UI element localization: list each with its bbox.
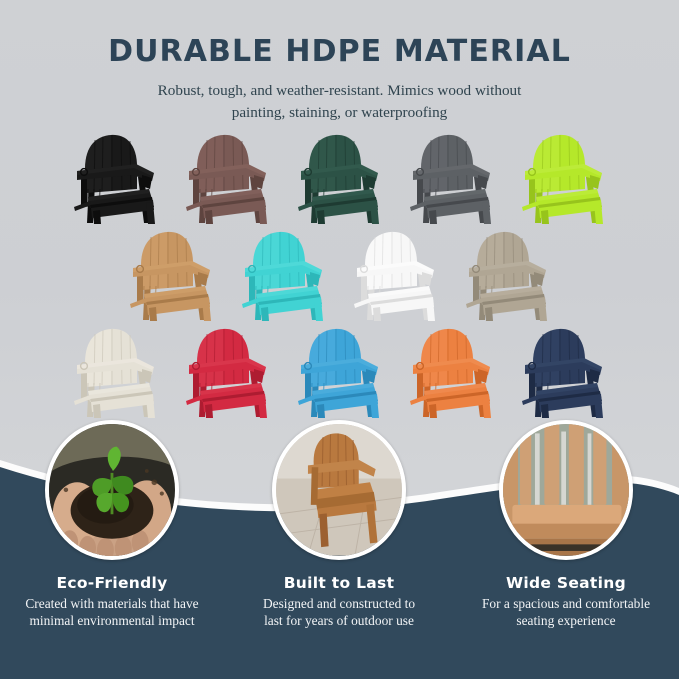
header: DURABLE HDPE MATERIAL Robust, tough, and… xyxy=(0,0,679,124)
feature-list: Eco-FriendlyCreated with materials that … xyxy=(0,420,679,679)
feature-image-1 xyxy=(45,420,179,560)
chair-swatch-lime-green[interactable] xyxy=(508,128,620,225)
feature-title: Built to Last xyxy=(226,574,452,592)
chair-swatch-dark-green[interactable] xyxy=(284,128,396,225)
chair-row xyxy=(0,128,679,225)
chair-swatch-orange[interactable] xyxy=(396,322,508,419)
feature-desc-line-1: For a spacious and comfortable xyxy=(482,596,650,611)
feature-desc-line-2: last for years of outdoor use xyxy=(264,613,414,628)
feature-title: Wide Seating xyxy=(453,574,679,592)
chair-swatch-red[interactable] xyxy=(172,322,284,419)
teak-adirondack-chair-icon xyxy=(276,424,402,556)
chair-row xyxy=(0,225,679,322)
chair-color-grid xyxy=(0,128,679,419)
feature-description: Created with materials that haveminimal … xyxy=(0,595,225,629)
page-subtitle: Robust, tough, and weather-resistant. Mi… xyxy=(0,68,679,124)
feature-image-2 xyxy=(272,420,406,560)
chair-swatch-teak[interactable] xyxy=(116,225,228,322)
chair-swatch-navy-blue[interactable] xyxy=(508,322,620,419)
chair-swatch-light-blue[interactable] xyxy=(284,322,396,419)
subtitle-line-1: Robust, tough, and weather-resistant. Mi… xyxy=(158,82,522,99)
chair-swatch-gray[interactable] xyxy=(396,128,508,225)
feature-description: Designed and constructed tolast for year… xyxy=(226,595,452,629)
feature-desc-line-1: Created with materials that have xyxy=(25,596,198,611)
feature-2: Built to LastDesigned and constructed to… xyxy=(226,420,452,629)
feature-image-3 xyxy=(499,420,633,560)
feature-3: Wide SeatingFor a spacious and comfortab… xyxy=(453,420,679,629)
feature-desc-line-2: minimal environmental impact xyxy=(29,613,194,628)
page-title: DURABLE HDPE MATERIAL xyxy=(0,0,679,68)
chair-swatch-black[interactable] xyxy=(60,128,172,225)
feature-1: Eco-FriendlyCreated with materials that … xyxy=(0,420,225,629)
chair-swatch-ivory[interactable] xyxy=(60,322,172,419)
hands-holding-seedling-icon xyxy=(49,424,175,556)
feature-description: For a spacious and comfortableseating ex… xyxy=(453,595,679,629)
chair-swatch-brown[interactable] xyxy=(172,128,284,225)
chair-seat-closeup-icon xyxy=(503,424,629,556)
chair-swatch-turquoise[interactable] xyxy=(228,225,340,322)
feature-title: Eco-Friendly xyxy=(0,574,225,592)
subtitle-line-2: painting, staining, or waterproofing xyxy=(232,104,448,121)
chair-swatch-weathered-gray[interactable] xyxy=(452,225,564,322)
chair-swatch-white[interactable] xyxy=(340,225,452,322)
infographic-page: DURABLE HDPE MATERIAL Robust, tough, and… xyxy=(0,0,679,679)
feature-desc-line-2: seating experience xyxy=(516,613,615,628)
chair-row xyxy=(0,322,679,419)
feature-desc-line-1: Designed and constructed to xyxy=(263,596,415,611)
